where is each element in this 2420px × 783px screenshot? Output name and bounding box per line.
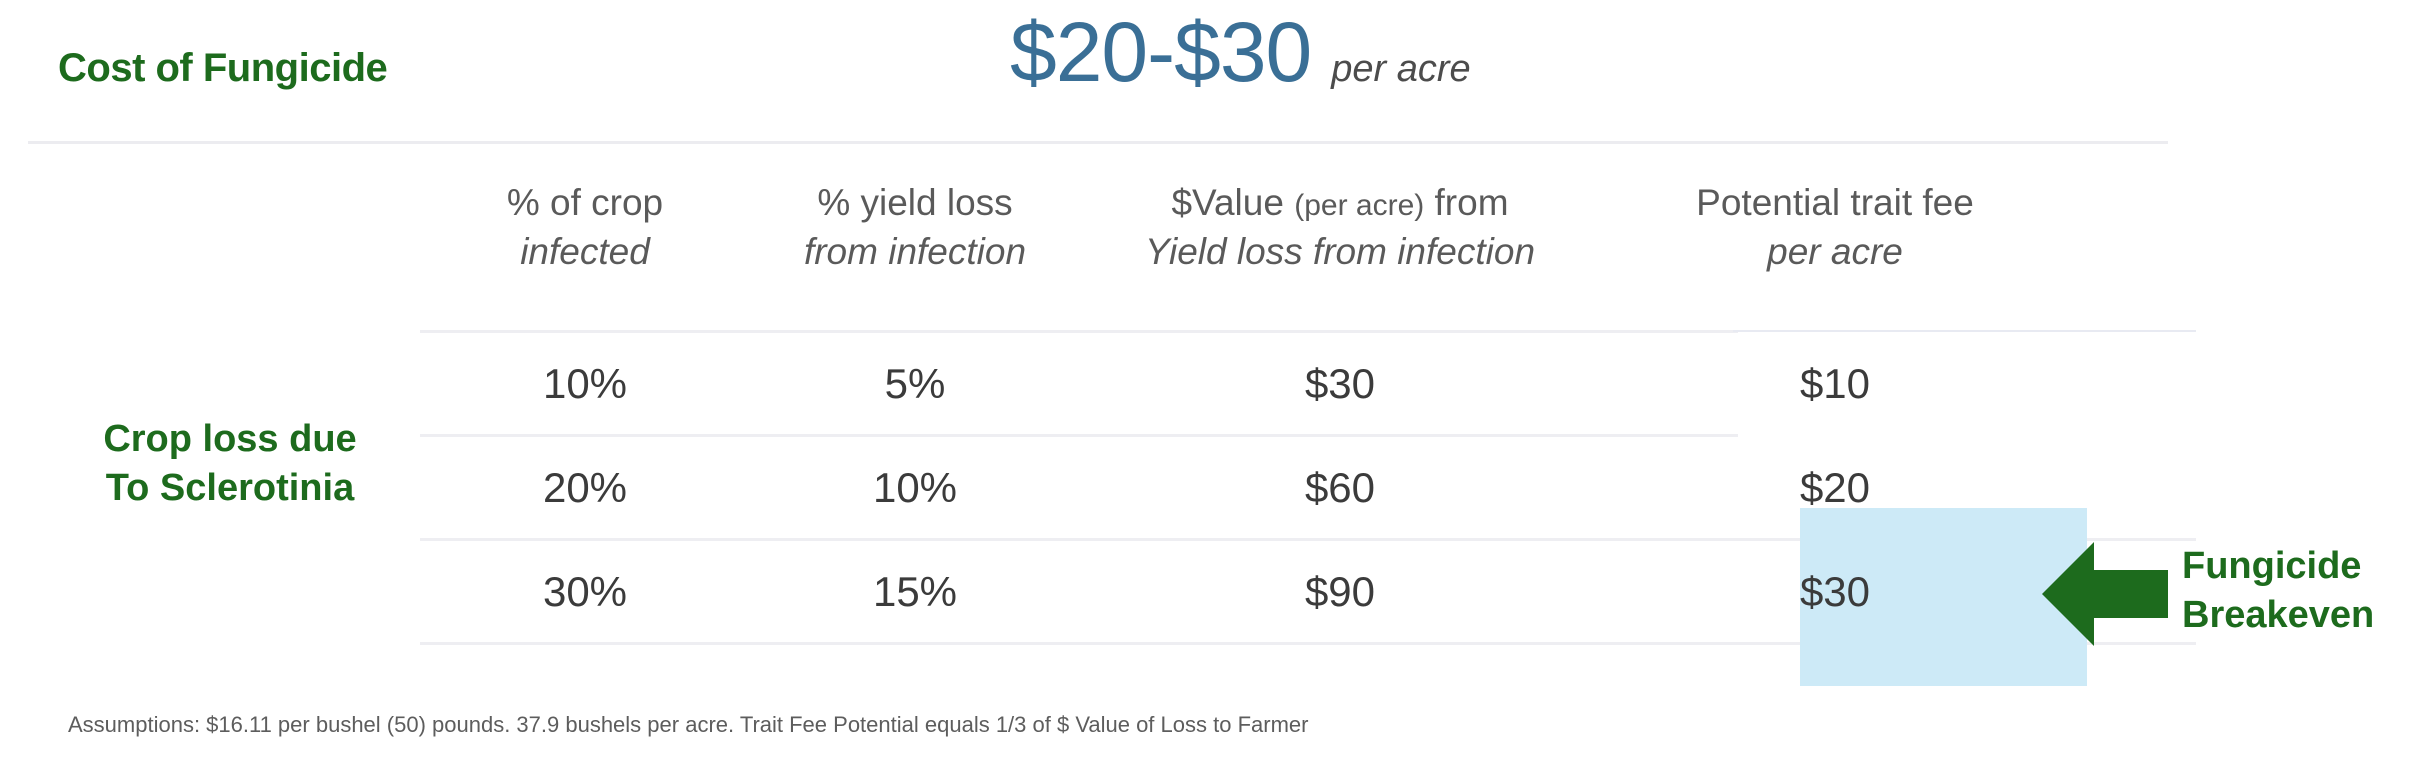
value-loss-prefix: $Value [1171, 182, 1294, 223]
crop-loss-table: % of crop infected % yield loss from inf… [0, 150, 2420, 710]
row-group-label-line1: Crop loss due [50, 415, 410, 464]
fungicide-breakeven-annotation: Fungicide Breakeven [2182, 542, 2374, 639]
cell-crop-infected-1: 10% [420, 360, 750, 408]
price-unit-label: per acre [1331, 48, 1470, 91]
header-rowlabel-spacer [0, 150, 420, 332]
column-header-trait-fee: Potential trait fee per acre [1600, 150, 2070, 332]
column-header-crop-infected-line2: infected [420, 227, 750, 276]
fungicide-breakeven-line1: Fungicide [2182, 542, 2374, 591]
fungicide-breakeven-line2: Breakeven [2182, 591, 2374, 640]
cell-yield-loss-3: 15% [750, 568, 1080, 616]
column-header-yield-loss: % yield loss from infection [750, 150, 1080, 332]
cell-trait-fee-1: $10 [1600, 360, 2070, 408]
column-header-crop-infected-line1: % of crop [420, 178, 750, 227]
column-header-trait-fee-line1: Potential trait fee [1600, 178, 2070, 227]
cell-yield-loss-2: 10% [750, 464, 1080, 512]
value-loss-suffix: from [1424, 182, 1508, 223]
cell-yield-loss-1: 5% [750, 360, 1080, 408]
price-display: $20-$30 per acre [1010, 10, 1471, 94]
cell-value-loss-3: $90 [1080, 568, 1600, 616]
cell-crop-infected-2: 20% [420, 464, 750, 512]
cost-of-fungicide-label: Cost of Fungicide [58, 46, 387, 91]
cell-value-loss-2: $60 [1080, 464, 1600, 512]
cell-crop-infected-3: 30% [420, 568, 750, 616]
row-group-label-crop-loss: Crop loss due To Sclerotinia [50, 415, 410, 512]
column-header-value-loss-line1: $Value (per acre) from [1080, 178, 1600, 227]
table-header-row: % of crop infected % yield loss from inf… [0, 150, 2420, 332]
column-header-trait-fee-line2: per acre [1600, 227, 2070, 276]
column-header-crop-infected: % of crop infected [420, 150, 750, 332]
column-header-yield-loss-line2: from infection [750, 227, 1080, 276]
row-group-label-line2: To Sclerotinia [50, 464, 410, 513]
left-arrow-icon [2042, 540, 2168, 648]
banner-divider [28, 141, 2168, 144]
column-header-value-loss: $Value (per acre) from Yield loss from i… [1080, 150, 1600, 332]
price-range-value: $20-$30 [1010, 10, 1311, 94]
column-header-value-loss-line2: Yield loss from infection [1080, 227, 1600, 276]
cell-value-loss-1: $30 [1080, 360, 1600, 408]
fungicide-cost-banner: Cost of Fungicide $20-$30 per acre [0, 0, 2420, 145]
cell-trait-fee-2: $20 [1600, 464, 2070, 512]
cell-trait-fee-3: $30 [1600, 568, 2070, 616]
column-header-yield-loss-line1: % yield loss [750, 178, 1080, 227]
assumptions-footnote: Assumptions: $16.11 per bushel (50) poun… [68, 712, 1308, 738]
value-loss-peracre: (per acre) [1294, 189, 1424, 222]
